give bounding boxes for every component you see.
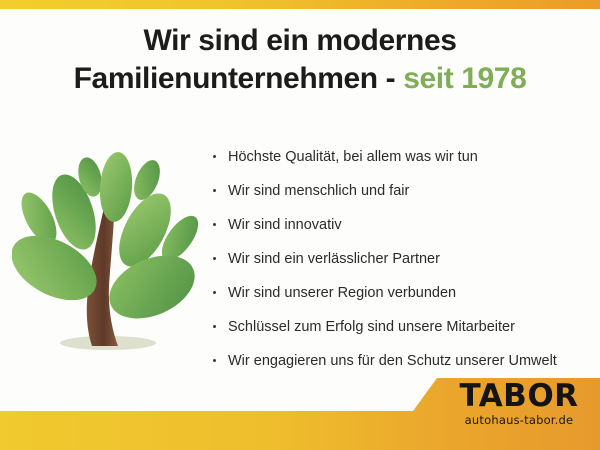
- benefits-list: Höchste Qualität, bei allem was wir tun …: [210, 140, 600, 378]
- bullet-dot-icon: [213, 359, 216, 362]
- page-title-line-1: Wir sind ein modernes: [0, 22, 600, 60]
- list-item-label: Wir sind ein verlässlicher Partner: [228, 242, 440, 276]
- bullet-dot-icon: [213, 223, 216, 226]
- list-item: Wir sind ein verlässlicher Partner: [210, 242, 600, 276]
- brand-logo-tagline: autohaus-tabor.de: [444, 413, 594, 427]
- page-title-line-2: Familienunternehmen - seit 1978: [0, 60, 600, 98]
- top-accent-bar: [0, 0, 600, 9]
- list-item: Höchste Qualität, bei allem was wir tun: [210, 140, 600, 174]
- list-item: Wir sind innovativ: [210, 208, 600, 242]
- list-item: Wir sind menschlich und fair: [210, 174, 600, 208]
- list-item-label: Wir engagieren uns für den Schutz unsere…: [228, 344, 557, 378]
- bullet-dot-icon: [213, 257, 216, 260]
- list-item-label: Schlüssel zum Erfolg sind unsere Mitarbe…: [228, 310, 515, 344]
- bullet-dot-icon: [213, 189, 216, 192]
- page-title-accent: seit 1978: [403, 62, 526, 95]
- bullet-dot-icon: [213, 155, 216, 158]
- bullet-dot-icon: [213, 291, 216, 294]
- list-item-label: Wir sind menschlich und fair: [228, 174, 409, 208]
- list-item-label: Wir sind innovativ: [228, 208, 342, 242]
- tree-illustration: [12, 150, 202, 375]
- list-item: Wir sind unserer Region verbunden: [210, 276, 600, 310]
- list-item-label: Höchste Qualität, bei allem was wir tun: [228, 140, 478, 174]
- slide-canvas: Wir sind ein modernes Familienunternehme…: [0, 0, 600, 450]
- brand-logo-wordmark: TABOR: [444, 380, 594, 412]
- tree-illustration-svg: [12, 150, 202, 375]
- list-item-label: Wir sind unserer Region verbunden: [228, 276, 456, 310]
- list-item: Schlüssel zum Erfolg sind unsere Mitarbe…: [210, 310, 600, 344]
- page-title-line-2-main: Familienunternehmen -: [74, 62, 404, 95]
- page-title: Wir sind ein modernes Familienunternehme…: [0, 22, 600, 98]
- bullet-dot-icon: [213, 325, 216, 328]
- list-item: Wir engagieren uns für den Schutz unsere…: [210, 344, 600, 378]
- brand-logo[interactable]: TABOR autohaus-tabor.de: [444, 380, 594, 427]
